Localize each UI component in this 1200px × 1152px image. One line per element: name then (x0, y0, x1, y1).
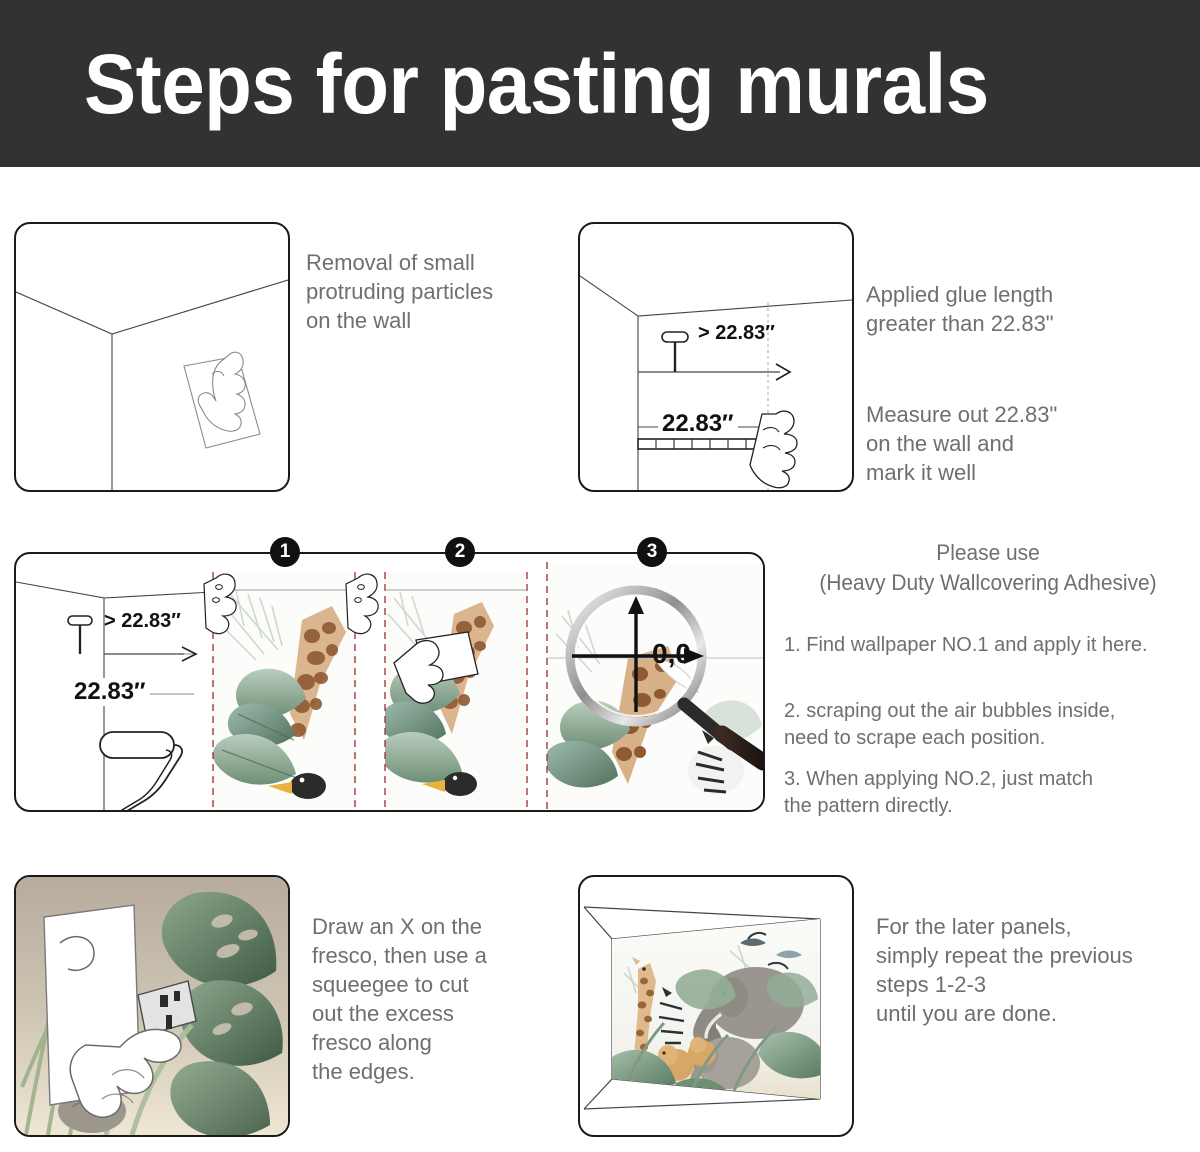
finished-room-illustration (580, 877, 852, 1135)
trim-edges-illustration (16, 877, 288, 1135)
origin-label: 0,0 (652, 638, 691, 670)
caption-repeat-panels: For the later panels, simply repeat the … (876, 912, 1200, 1028)
panel-repeat-panels (578, 875, 854, 1137)
adhesive-note-line2: (Heavy Duty Wallcovering Adhesive) (789, 568, 1188, 598)
caption-measure-mark: Measure out 22.83" on the wall and mark … (866, 400, 1186, 487)
dim-glue-greater: > 22.83″ (698, 322, 775, 345)
panel-trim-edges (14, 875, 290, 1137)
panel-glue-measure: > 22.83″ 22.83″ (578, 222, 854, 492)
caption-wall-clean: Removal of small protruding particles on… (306, 248, 556, 335)
caption-trim-edges: Draw an X on the fresco, then use a sque… (312, 912, 572, 1086)
glue-measure-illustration (580, 224, 852, 490)
dim-measure-exact: 22.83″ (658, 410, 738, 438)
adhesive-note-line1: Please use (789, 538, 1188, 568)
dim-strip-exact: 22.83″ (70, 678, 150, 706)
caption-glue-length: Applied glue length greater than 22.83" (866, 280, 1186, 338)
dim-strip-greater: > 22.83″ (104, 610, 181, 633)
panel-apply-strip: > 22.83″ 22.83″ 0,0 (14, 552, 765, 812)
apply-step-2: 2. scraping out the air bubbles inside, … (784, 698, 1200, 752)
step-badge-2: 2 (445, 537, 475, 567)
apply-step-3: 3. When applying NO.2, just match the pa… (784, 766, 1200, 820)
page-title: Steps for pasting murals (84, 30, 989, 138)
apply-step-1: 1. Find wallpaper NO.1 and apply it here… (784, 632, 1200, 659)
adhesive-note: Please use (Heavy Duty Wallcovering Adhe… (789, 538, 1188, 598)
wall-corner-illustration (16, 224, 288, 490)
step-badge-3: 3 (637, 537, 667, 567)
step-badge-1: 1 (270, 537, 300, 567)
panel-wall-clean (14, 222, 290, 492)
